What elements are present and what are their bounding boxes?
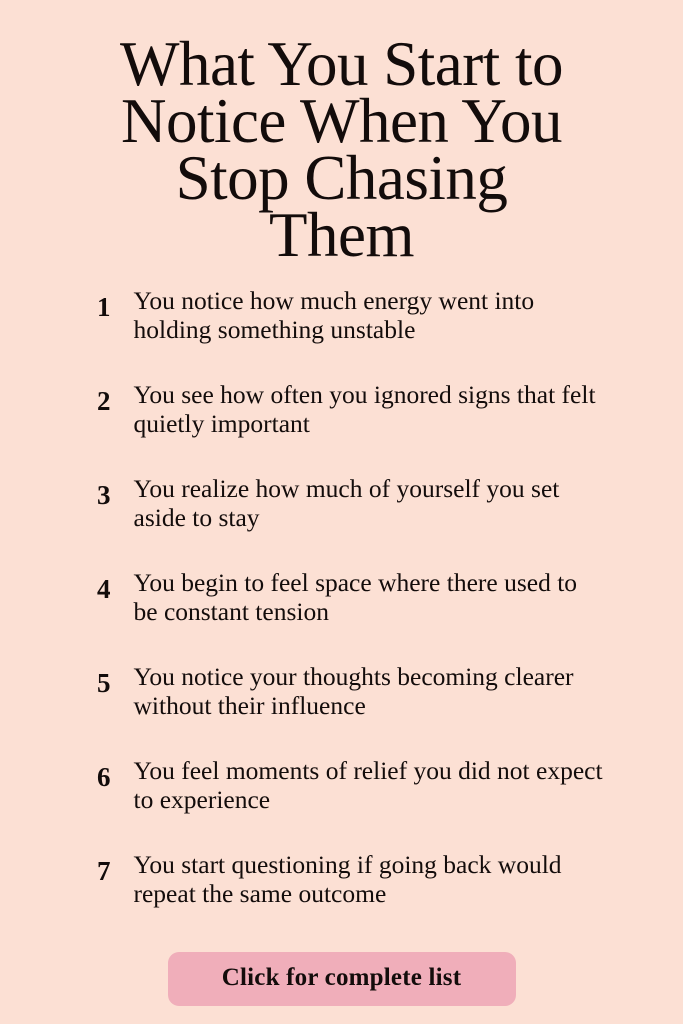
list-item-text: You feel moments of relief you did not e… (111, 756, 607, 814)
page-title-line-1: What You Start to (52, 36, 632, 93)
list-item-number: 3 (77, 474, 111, 510)
page-title-line-2: Notice When You (52, 93, 632, 150)
list-item-number: 5 (77, 662, 111, 698)
list-item-number: 7 (77, 850, 111, 886)
list-item: 4 You begin to feel space where there us… (77, 568, 607, 626)
complete-list-button[interactable]: Click for complete list (168, 952, 516, 1006)
list-item: 1 You notice how much energy went into h… (77, 286, 607, 344)
list-item-text: You begin to feel space where there used… (111, 568, 607, 626)
cta-container: Click for complete list (0, 952, 683, 1006)
list-item-text: You notice how much energy went into hol… (111, 286, 607, 344)
pin-graphic: What You Start to Notice When You Stop C… (0, 0, 683, 1024)
list-item: 5 You notice your thoughts becoming clea… (77, 662, 607, 720)
list-item: 6 You feel moments of relief you did not… (77, 756, 607, 814)
list-item-text: You see how often you ignored signs that… (111, 380, 607, 438)
numbered-list: 1 You notice how much energy went into h… (77, 286, 607, 908)
list-item: 7 You start questioning if going back wo… (77, 850, 607, 908)
page-title-line-3: Stop Chasing (52, 150, 632, 207)
list-item-number: 1 (77, 286, 111, 322)
page-title-line-4: Them (52, 207, 632, 264)
list-item-number: 4 (77, 568, 111, 604)
list-item: 3 You realize how much of yourself you s… (77, 474, 607, 532)
list-item-text: You realize how much of yourself you set… (111, 474, 607, 532)
list-item: 2 You see how often you ignored signs th… (77, 380, 607, 438)
list-item-text: You notice your thoughts becoming cleare… (111, 662, 607, 720)
page-title: What You Start to Notice When You Stop C… (52, 36, 632, 264)
list-item-number: 2 (77, 380, 111, 416)
list-item-text: You start questioning if going back woul… (111, 850, 607, 908)
list-item-number: 6 (77, 756, 111, 792)
